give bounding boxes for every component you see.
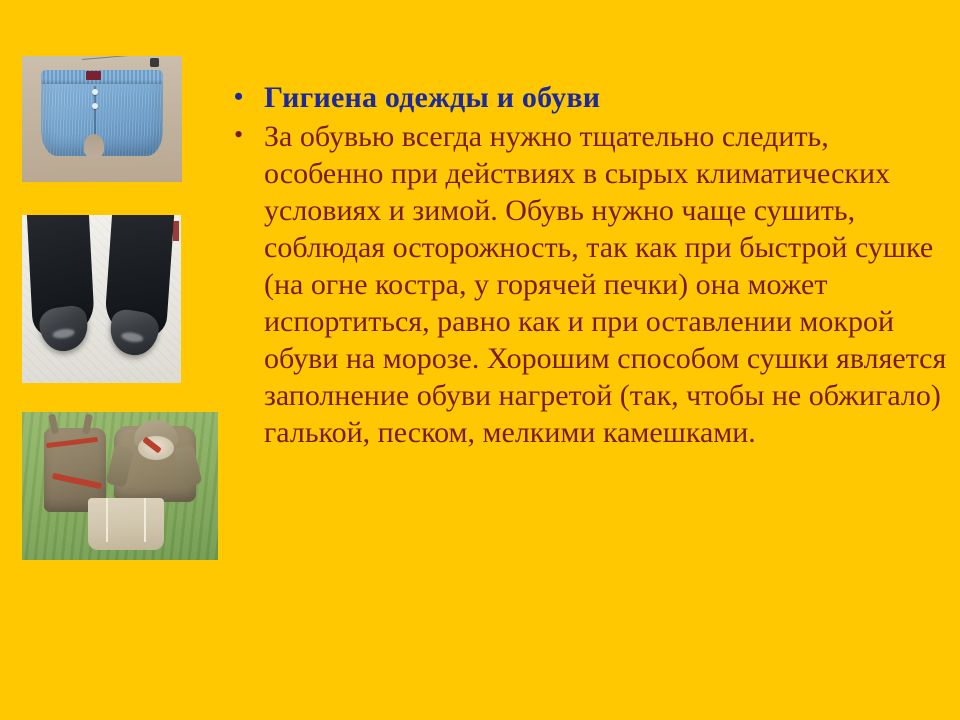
snowsuit-cord-left (106, 498, 108, 542)
body-paragraph: За обувью всегда нужно тщательно следить… (264, 118, 952, 451)
shorts-waistband (41, 70, 163, 84)
shorts-button-lower (92, 103, 98, 109)
bullet-list: Гигиена одежды и обуви За обувью всегда … (228, 78, 952, 451)
hanger-line (82, 56, 152, 60)
shoe-highlight-left (52, 328, 75, 340)
slide-title-bullet: Гигиена одежды и обуви (228, 78, 952, 118)
page-title: Гигиена одежды и обуви (264, 81, 600, 114)
shorts-leg-gap (84, 134, 104, 158)
shorts-button-upper (92, 89, 98, 95)
snowsuit-cord-right (144, 498, 146, 542)
slide-body-bullet: За обувью всегда нужно тщательно следить… (228, 118, 952, 451)
hanger-clip-icon (150, 58, 159, 67)
shoes-photo (22, 215, 181, 383)
shorts-brand-tag (86, 71, 101, 80)
background-red-object (173, 221, 179, 241)
shoe-highlight-right (121, 331, 144, 343)
slide: Гигиена одежды и обуви За обувью всегда … (0, 0, 960, 720)
slide-content: Гигиена одежды и обуви За обувью всегда … (228, 78, 952, 451)
snowsuit-bib (88, 498, 164, 550)
boxer-shorts-photo (22, 56, 182, 182)
winter-suit-photo (22, 412, 218, 560)
